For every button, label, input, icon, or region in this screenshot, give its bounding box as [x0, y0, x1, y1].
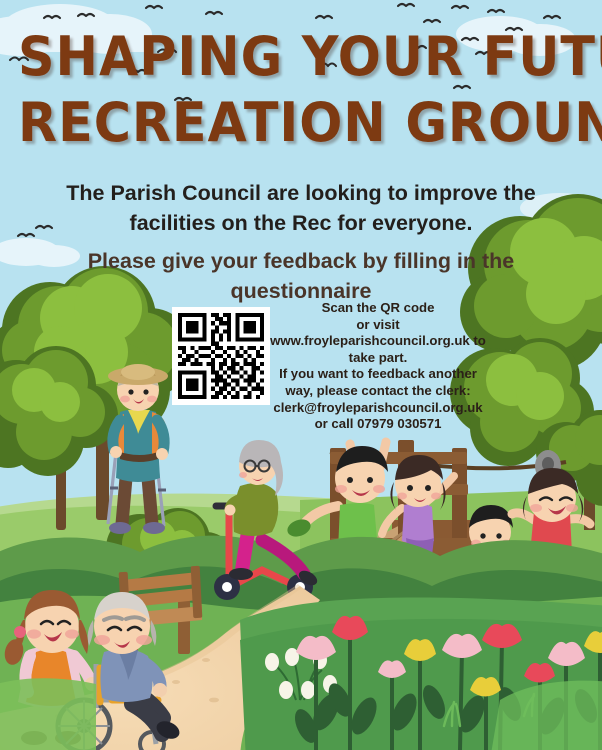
poster-intro-text: The Parish Council are looking to improv…	[46, 178, 556, 238]
contact-line-scan: Scan the QR code	[268, 300, 488, 317]
contact-line-feedback-2: way, please contact the clerk:	[268, 383, 488, 400]
contact-line-feedback-1: If you want to feedback another	[268, 366, 488, 383]
contact-line-email[interactable]: clerk@froyleparishcouncil.org.uk	[268, 400, 488, 417]
poster-title-line-2: RECREATION GROUND	[18, 94, 584, 152]
poster-title-line-1: SHAPING YOUR FUTURE	[18, 28, 584, 86]
poster: SHAPING YOUR FUTURE RECREATION GROUND Th…	[0, 0, 602, 750]
qr-code[interactable]	[172, 307, 270, 405]
contact-line-phone[interactable]: or call 07979 030571	[268, 416, 488, 433]
poster-call-to-action: Please give your feedback by filling in …	[56, 246, 546, 306]
contact-block: Scan the QR code or visit www.froylepari…	[268, 300, 488, 433]
contact-line-website[interactable]: www.froyleparishcouncil.org.uk to	[268, 333, 488, 350]
qr-code-image	[178, 313, 264, 399]
contact-line-orvisit: or visit	[268, 317, 488, 334]
flower-bed	[240, 616, 602, 750]
grass-bottom-left	[0, 678, 96, 750]
contact-line-takepart: take part.	[268, 350, 488, 367]
